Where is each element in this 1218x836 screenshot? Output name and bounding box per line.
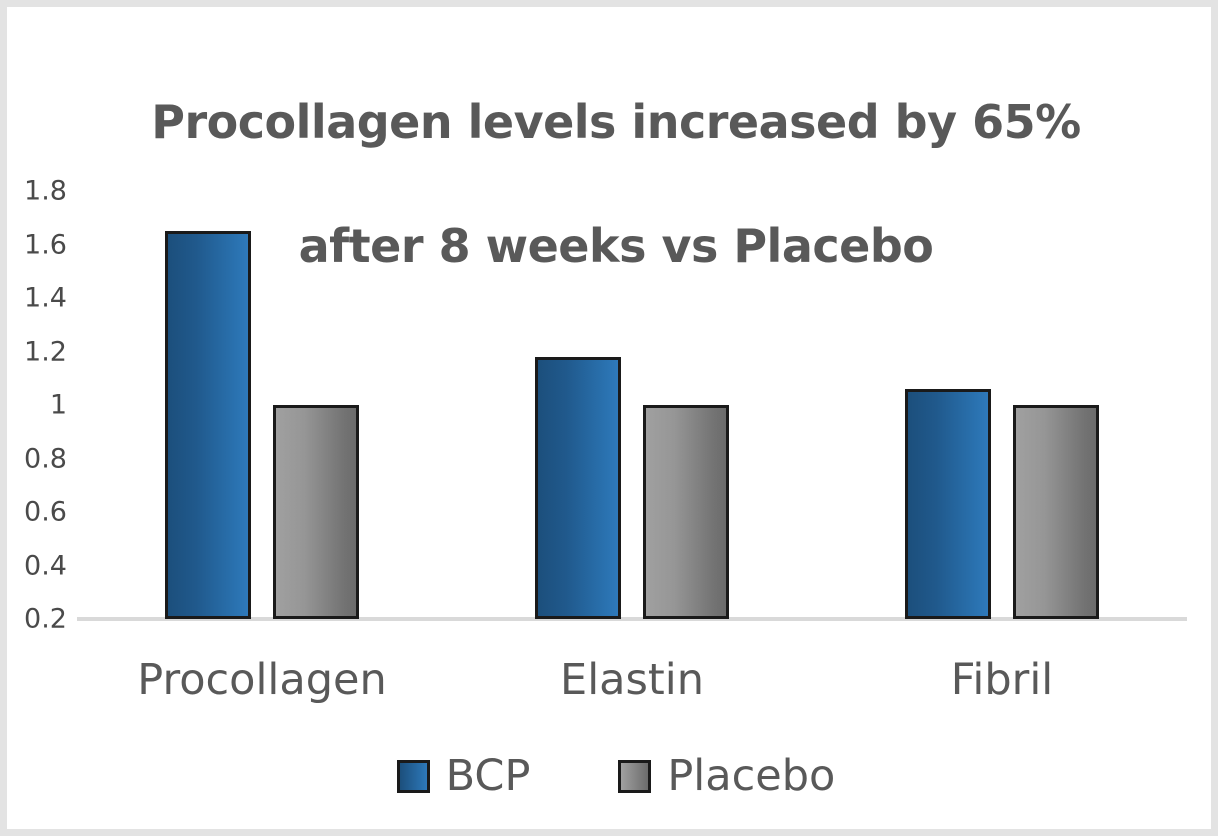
legend-label-bcp: BCP [446, 755, 531, 798]
chart-legend: BCP Placebo [7, 755, 1218, 798]
y-axis-tick-label: 0.8 [7, 443, 67, 474]
bar-fibril-placebo [1013, 405, 1099, 619]
bar-procollagen-placebo [273, 405, 359, 619]
y-axis-tick-label: 1.4 [7, 283, 67, 314]
bar-elastin-placebo [643, 405, 729, 619]
legend-item-bcp: BCP [397, 755, 531, 798]
category-label-elastin: Elastin [560, 655, 704, 705]
legend-swatch-placebo-icon [618, 760, 651, 793]
y-axis-tick-label: 1 [7, 390, 67, 421]
bar-procollagen-bcp [165, 231, 251, 619]
category-label-fibril: Fibril [951, 655, 1053, 705]
bar-elastin-bcp [535, 357, 621, 619]
y-axis-tick-label: 0.2 [7, 604, 67, 635]
y-axis-tick-label: 1.2 [7, 336, 67, 367]
bar-fibril-bcp [905, 389, 991, 619]
chart-title-line-1: Procollagen levels increased by 65% [151, 95, 1080, 149]
y-axis-tick-label: 1.6 [7, 229, 67, 260]
y-axis-tick-label: 0.4 [7, 550, 67, 581]
plot-area [77, 191, 1187, 619]
y-axis-tick-label: 0.6 [7, 497, 67, 528]
category-label-procollagen: Procollagen [137, 655, 386, 705]
y-axis-tick-label: 1.8 [7, 176, 67, 207]
legend-label-placebo: Placebo [667, 755, 835, 798]
legend-swatch-bcp-icon [397, 760, 430, 793]
chart-container: Procollagen levels increased by 65% afte… [0, 0, 1218, 836]
legend-item-placebo: Placebo [618, 755, 835, 798]
